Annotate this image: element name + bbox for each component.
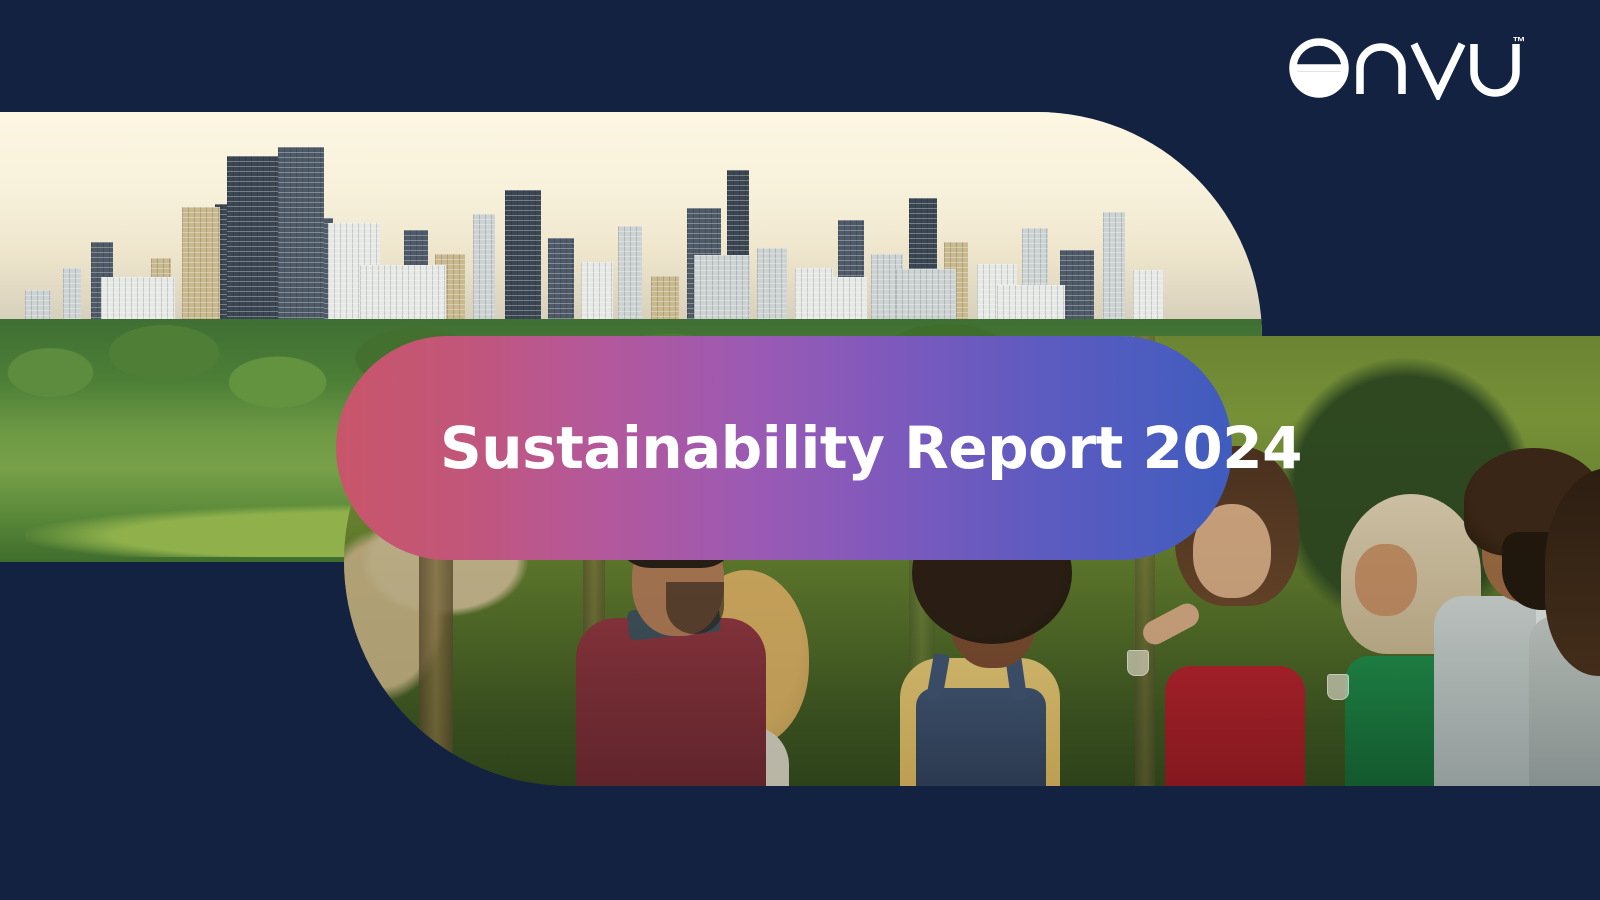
trademark-symbol: ™ xyxy=(1513,34,1527,49)
cover-page: Sustainability Report 2024 ™ xyxy=(0,0,1600,900)
envu-logo[interactable]: ™ xyxy=(1288,28,1528,100)
page-title: Sustainability Report 2024 xyxy=(440,414,1302,482)
report-title-banner: Sustainability Report 2024 xyxy=(336,336,1232,560)
